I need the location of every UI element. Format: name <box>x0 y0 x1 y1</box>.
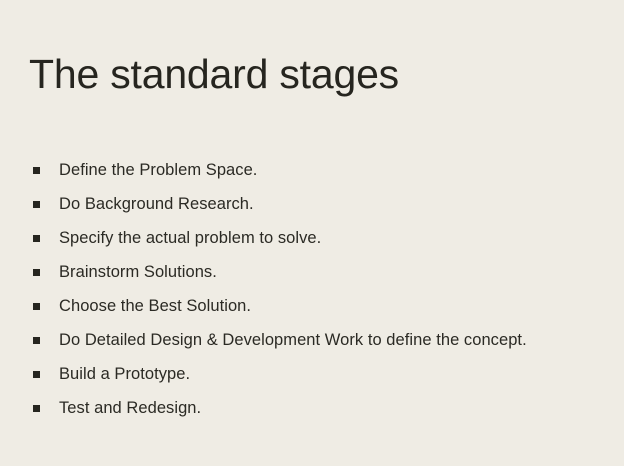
list-item: Build a Prototype. <box>33 357 612 391</box>
list-item-label: Build a Prototype. <box>59 357 612 391</box>
presentation-slide: The standard stages Define the Problem S… <box>0 0 624 466</box>
list-item: Choose the Best Solution. <box>33 289 612 323</box>
square-bullet-icon <box>33 337 40 344</box>
list-item: Do Background Research. <box>33 187 612 221</box>
list-item: Test and Redesign. <box>33 391 612 425</box>
list-item: Do Detailed Design & Development Work to… <box>33 323 612 357</box>
list-item-label: Test and Redesign. <box>59 391 612 425</box>
square-bullet-icon <box>33 201 40 208</box>
square-bullet-icon <box>33 405 40 412</box>
list-item-label: Do Background Research. <box>59 187 612 221</box>
square-bullet-icon <box>33 167 40 174</box>
list-item: Brainstorm Solutions. <box>33 255 612 289</box>
square-bullet-icon <box>33 235 40 242</box>
square-bullet-icon <box>33 371 40 378</box>
list-item-label: Specify the actual problem to solve. <box>59 221 612 255</box>
square-bullet-icon <box>33 303 40 310</box>
list-item-label: Do Detailed Design & Development Work to… <box>59 323 612 357</box>
list-item-label: Brainstorm Solutions. <box>59 255 612 289</box>
list-item: Specify the actual problem to solve. <box>33 221 612 255</box>
list-item-label: Define the Problem Space. <box>59 153 612 187</box>
square-bullet-icon <box>33 269 40 276</box>
list-item-label: Choose the Best Solution. <box>59 289 612 323</box>
stage-list: Define the Problem Space. Do Background … <box>33 153 612 425</box>
list-item: Define the Problem Space. <box>33 153 612 187</box>
page-title: The standard stages <box>29 52 399 98</box>
